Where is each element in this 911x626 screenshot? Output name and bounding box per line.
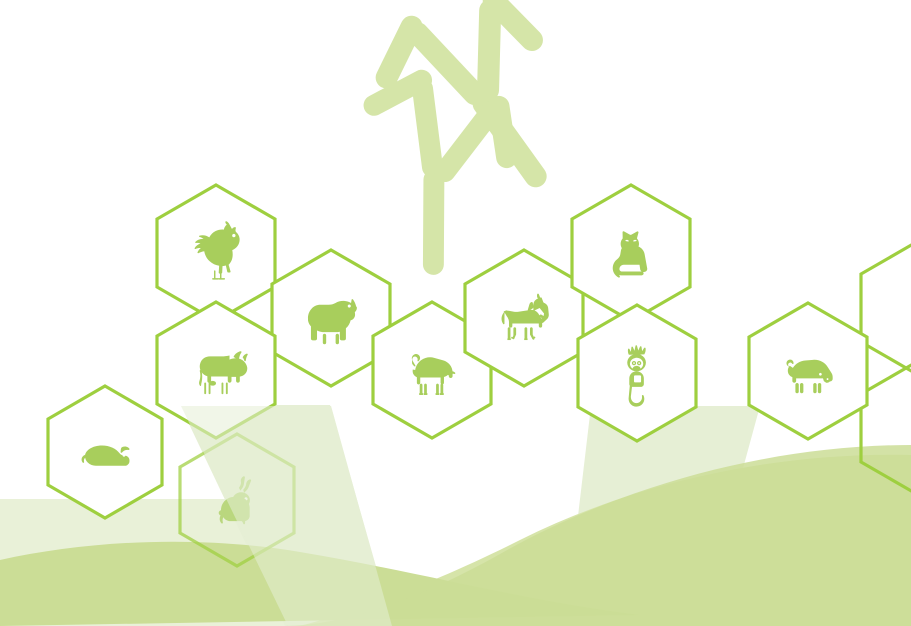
- banner-canvas: [0, 0, 911, 626]
- banner-illustration: [0, 0, 911, 626]
